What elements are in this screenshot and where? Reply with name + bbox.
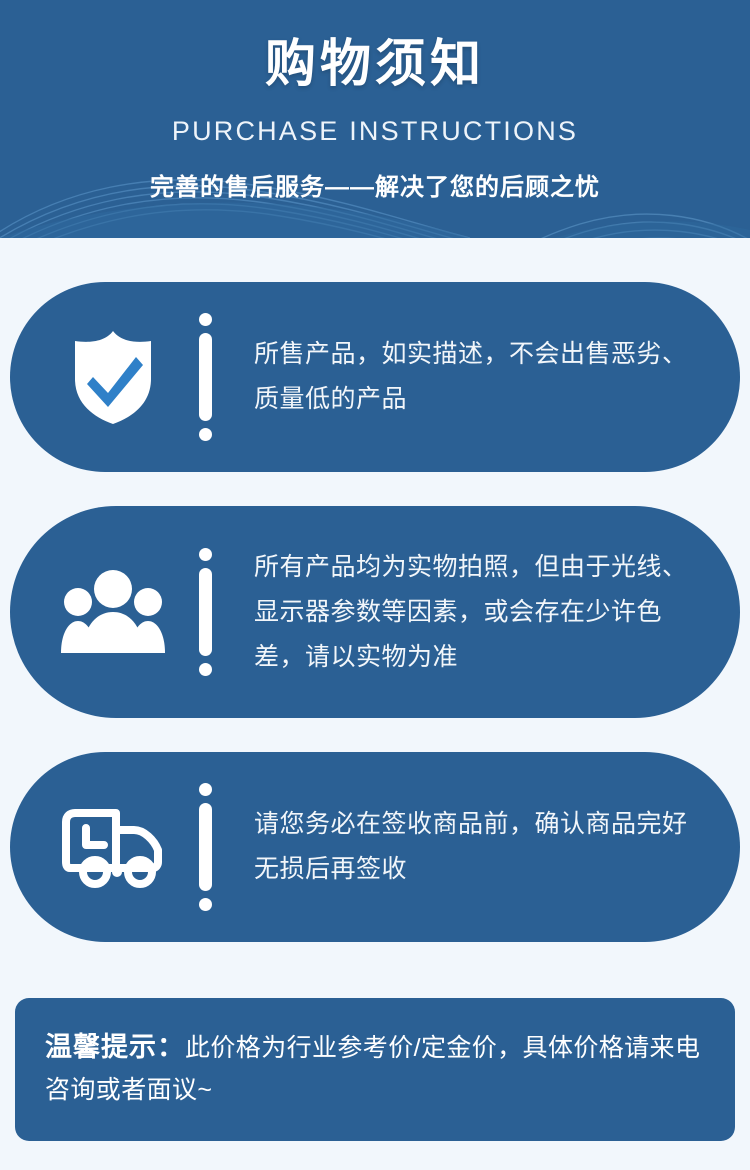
delivery-truck-icon <box>58 800 168 894</box>
instruction-card-list: 所售产品，如实描述，不会出售恶劣、质量低的产品 所有产品均为实物拍照，但由于光线… <box>0 238 750 942</box>
page-subtitle: 完善的售后服务——解决了您的后顾之忧 <box>0 145 750 200</box>
card-text: 所售产品，如实描述，不会出售恶劣、质量低的产品 <box>222 332 710 422</box>
card-text: 所有产品均为实物拍照，但由于光线、显示器参数等因素，或会存在少许色差，请以实物为… <box>222 545 710 680</box>
divider-dot-bottom <box>199 428 212 441</box>
instruction-card: 请您务必在签收商品前，确认商品完好无损后再签收 <box>10 752 740 942</box>
divider-bar <box>199 803 212 891</box>
page-title: 购物须知 <box>0 0 750 89</box>
people-group-icon <box>59 569 167 655</box>
divider-bar <box>199 333 212 421</box>
divider-bar <box>199 568 212 656</box>
card-icon-slot <box>38 569 188 655</box>
notice-label: 温馨提示： <box>45 1032 185 1062</box>
divider-dot-bottom <box>199 898 212 911</box>
page-header: 购物须知 PURCHASE INSTRUCTIONS 完善的售后服务——解决了您… <box>0 0 750 238</box>
card-divider <box>188 548 222 676</box>
instruction-card: 所有产品均为实物拍照，但由于光线、显示器参数等因素，或会存在少许色差，请以实物为… <box>10 506 740 718</box>
divider-dot-bottom <box>199 663 212 676</box>
card-icon-slot <box>38 800 188 894</box>
card-text: 请您务必在签收商品前，确认商品完好无损后再签收 <box>222 802 710 892</box>
price-notice-box: 温馨提示：此价格为行业参考价/定金价，具体价格请来电咨询或者面议~ <box>15 998 735 1141</box>
notice-paragraph: 温馨提示：此价格为行业参考价/定金价，具体价格请来电咨询或者面议~ <box>45 1026 705 1111</box>
card-icon-slot <box>38 327 188 427</box>
divider-dot-top <box>199 548 212 561</box>
card-divider <box>188 783 222 911</box>
instruction-card: 所售产品，如实描述，不会出售恶劣、质量低的产品 <box>10 282 740 472</box>
card-divider <box>188 313 222 441</box>
notice-section: 温馨提示：此价格为行业参考价/定金价，具体价格请来电咨询或者面议~ <box>0 976 750 1141</box>
divider-dot-top <box>199 313 212 326</box>
page-title-english: PURCHASE INSTRUCTIONS <box>0 89 750 145</box>
shield-check-icon <box>67 327 159 427</box>
divider-dot-top <box>199 783 212 796</box>
